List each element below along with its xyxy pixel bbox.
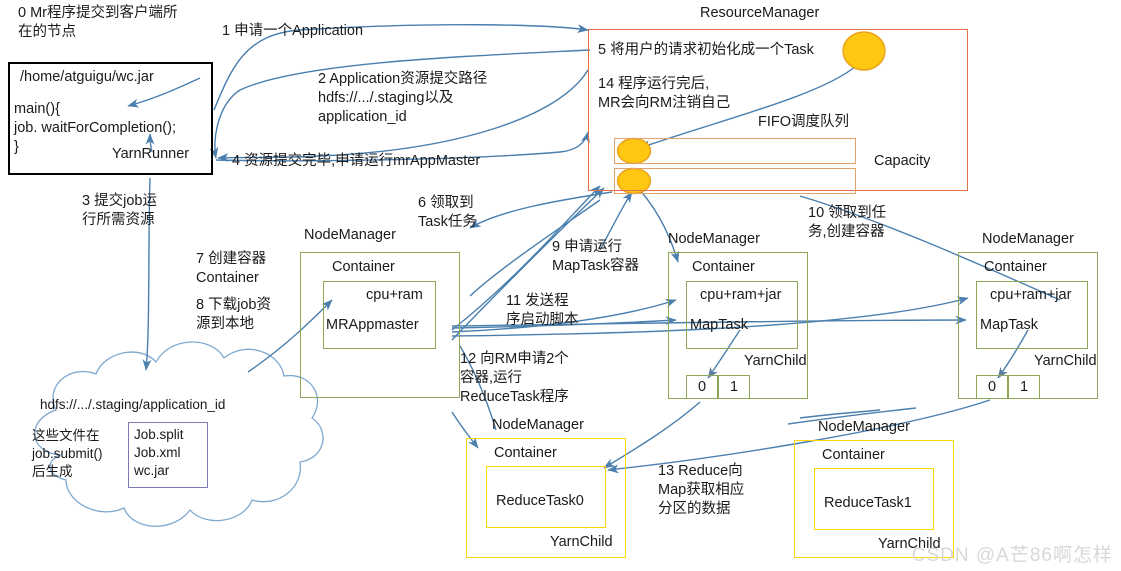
diagram-canvas: 0 Mr程序提交到客户端所在的节点 /home/atguigu/wc.jar m… [0,0,1121,571]
capacity-label: Capacity [874,152,930,171]
nm-reduce0-task-label: ReduceTask0 [496,492,584,511]
nm-appmaster-container-label: Container [332,258,395,277]
step-4-label: 4 资源提交完毕,申请运行mrAppMaster [232,152,480,171]
nm-reduce1-task-label: ReduceTask1 [824,494,912,513]
nm-maptask-right-label: NodeManager [982,230,1074,249]
step-13-label: 13 Reduce向 Map获取相应 分区的数据 [658,462,778,519]
client-jar-path: /home/atguigu/wc.jar [20,68,154,87]
nm-maptask-mid-label: NodeManager [668,230,760,249]
client-yarnrunner-label: YarnRunner [112,145,189,164]
hdfs-staging-path: hdfs://.../.staging/application_id [40,396,225,414]
resourcemanager-title: ResourceManager [700,4,819,23]
nm-appmaster-label: NodeManager [304,226,396,245]
fifo-queue-label: FIFO调度队列 [758,113,849,132]
nm-maptask-right-resource-label: cpu+ram+jar [990,286,1071,305]
nm-reduce0-label: NodeManager [492,416,584,435]
client-code-main: main(){ [14,100,60,119]
fifo-queue-row-2 [614,168,856,194]
step-12-label: 12 向RM申请2个 容器,运行 ReduceTask程序 [460,350,590,407]
nm-reduce1-label: NodeManager [818,418,910,437]
client-code-close: } [14,138,19,157]
nm-maptask-mid-partition-0: 0 [686,378,718,397]
client-code-call: job. waitForCompletion(); [14,119,176,138]
nm-maptask-mid-container-label: Container [692,258,755,277]
nm-maptask-right-task-label: MapTask [980,316,1038,335]
nm-maptask-mid-partition-1: 1 [718,378,750,397]
nm-maptask-right-partition-1: 1 [1008,378,1040,397]
nm-appmaster-resource-label: cpu+ram [366,286,423,305]
nm-maptask-right-partition-0: 0 [976,378,1008,397]
nm-reduce1-container-label: Container [822,446,885,465]
step-6-label: 6 领取到 Task任务 [418,194,518,232]
step-10-label: 10 领取到任 务,创建容器 [808,204,928,242]
step-9-label: 9 申请运行 MapTask容器 [552,238,682,276]
cloud-files-list: Job.split Job.xml wc.jar [134,426,184,480]
nm-maptask-mid-resource-label: cpu+ram+jar [700,286,781,305]
step-11-label: 11 发送程 序启动脚本 [506,292,616,330]
cloud-note: 这些文件在 job.submit() 后生成 [32,427,142,481]
nm-reduce0-yarnchild-label: YarnChild [550,533,613,552]
step-8-label: 8 下载job资 源到本地 [196,296,306,334]
nm-appmaster-task-label: MRAppmaster [326,316,419,335]
csdn-watermark: CSDN @A芒86啊怎样 [912,540,1113,567]
nm-maptask-right-yarnchild-label: YarnChild [1034,352,1097,371]
arrow-step-13c [800,410,880,418]
client-node-note: 0 Mr程序提交到客户端所在的节点 [18,4,188,42]
step-7-label: 7 创建容器 Container [196,250,306,288]
nm-maptask-mid-yarnchild-label: YarnChild [744,352,807,371]
step-14-label: 14 程序运行完后, MR会向RM注销自己 [598,75,838,113]
nm-reduce0-container-label: Container [494,444,557,463]
step-5-label: 5 将用户的请求初始化成一个Task [598,41,814,60]
step-3-label: 3 提交job运 行所需资源 [82,192,192,230]
nm-maptask-right-container-label: Container [984,258,1047,277]
step-2-label: 2 Application资源提交路径 hdfs://.../.staging以… [318,70,528,127]
fifo-queue-row-1 [614,138,856,164]
nm-maptask-mid-task-label: MapTask [690,316,748,335]
step-1-label: 1 申请一个Application [222,22,363,41]
